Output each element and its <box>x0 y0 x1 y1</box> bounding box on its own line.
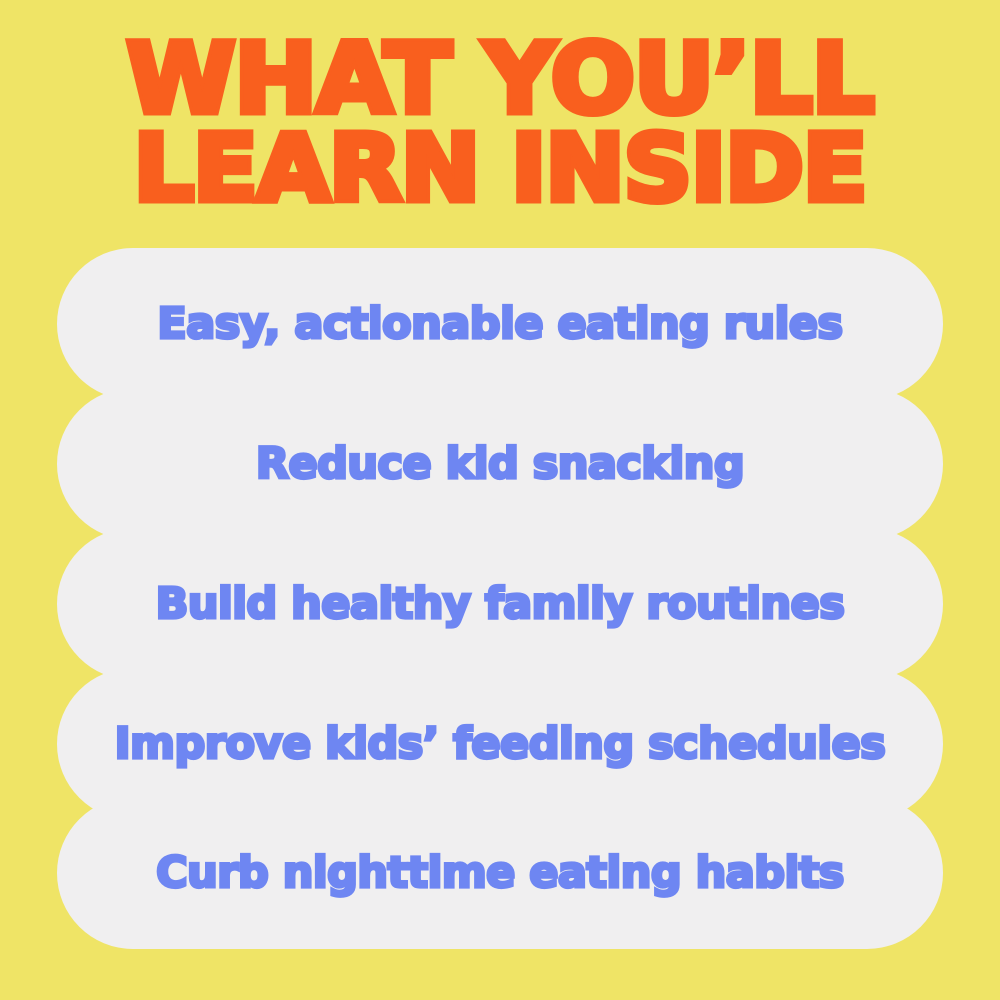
benefit-card-3-label: Build healthy family routines <box>156 579 845 629</box>
page-title-line-2: LEARN INSIDE <box>0 128 1000 211</box>
benefit-card-1: Easy, actionable eating rules <box>57 248 943 400</box>
benefit-card-2-label: Reduce kid snacking <box>256 439 744 489</box>
benefit-card-5-label: Curb nighttime eating habits <box>156 848 844 898</box>
benefit-card-1-label: Easy, actionable eating rules <box>157 299 842 349</box>
benefit-card-stack: Easy, actionable eating rules Reduce kid… <box>57 248 943 949</box>
benefit-card-5: Curb nighttime eating habits <box>57 797 943 949</box>
benefit-card-4-label: Improve kids’ feeding schedules <box>115 719 886 769</box>
benefit-card-2: Reduce kid snacking <box>57 388 943 540</box>
poster-canvas: WHAT YOU’LL LEARN INSIDE Easy, actionabl… <box>0 0 1000 1000</box>
page-title-line-1: WHAT YOU’LL <box>0 36 1000 122</box>
benefit-card-3: Build healthy family routines <box>57 528 943 680</box>
page-title: WHAT YOU’LL LEARN INSIDE <box>0 36 1000 211</box>
